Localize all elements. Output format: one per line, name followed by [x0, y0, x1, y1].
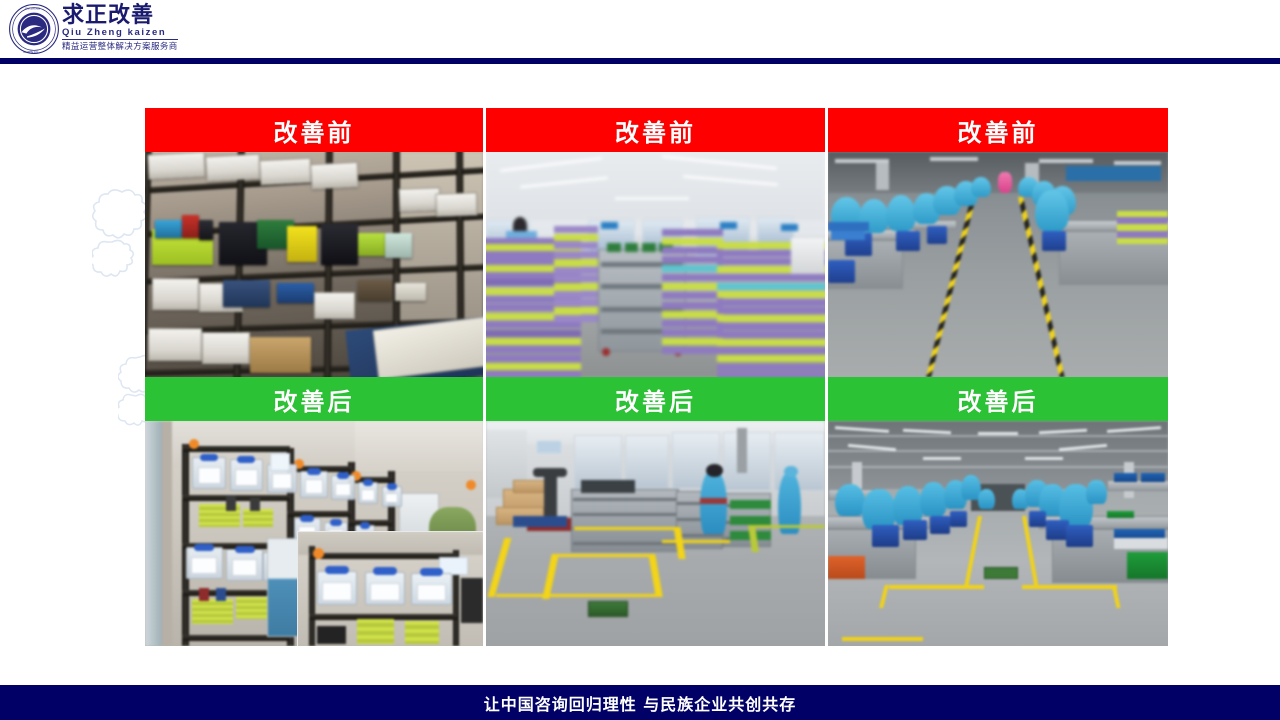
banner-after-col1: 改善后 [145, 377, 483, 421]
photo-after-col3 [828, 421, 1168, 646]
svg-text:QIU ZHENG: QIU ZHENG [25, 6, 40, 10]
footer-slogan: 让中国咨询回归理性 与民族企业共创共存 [484, 691, 797, 715]
banner-before-col2: 改善前 [486, 108, 825, 152]
slide-footer: 让中国咨询回归理性 与民族企业共创共存 [0, 685, 1280, 720]
photo-before-col1 [145, 152, 483, 377]
svg-text:KAIZEN CO.: KAIZEN CO. [23, 50, 38, 54]
company-logo: QIU ZHENG KAIZEN CO. 求正改善 Qiu Zheng kaiz… [8, 2, 180, 56]
banner-before-col1: 改善前 [145, 108, 483, 152]
logo-brand-cn: 求正改善 [62, 5, 178, 27]
photo-before-col2 [486, 152, 825, 377]
photo-after-col2 [486, 421, 825, 646]
circular-seal-swoosh-icon: QIU ZHENG KAIZEN CO. [8, 3, 60, 55]
banner-after-col2: 改善后 [486, 377, 825, 421]
slide-header: QIU ZHENG KAIZEN CO. 求正改善 Qiu Zheng kaiz… [0, 0, 1280, 58]
banner-before-col3: 改善前 [828, 108, 1168, 152]
slide: QIU ZHENG KAIZEN CO. 求正改善 Qiu Zheng kaiz… [0, 0, 1280, 720]
photo-after-col1 [145, 421, 483, 646]
logo-wordmark: 求正改善 Qiu Zheng kaizen 精益运营整体解决方案服务商 [62, 5, 178, 54]
header-divider [0, 58, 1280, 64]
before-after-comparison-grid: 改善前 改善前 改善前 [145, 108, 1168, 646]
photo-after-col1-inset [297, 531, 483, 646]
logo-brand-pinyin: Qiu Zheng kaizen [62, 27, 178, 40]
banner-after-col3: 改善后 [828, 377, 1168, 421]
logo-tagline: 精益运营整体解决方案服务商 [62, 41, 178, 53]
photo-before-col3 [828, 152, 1168, 377]
